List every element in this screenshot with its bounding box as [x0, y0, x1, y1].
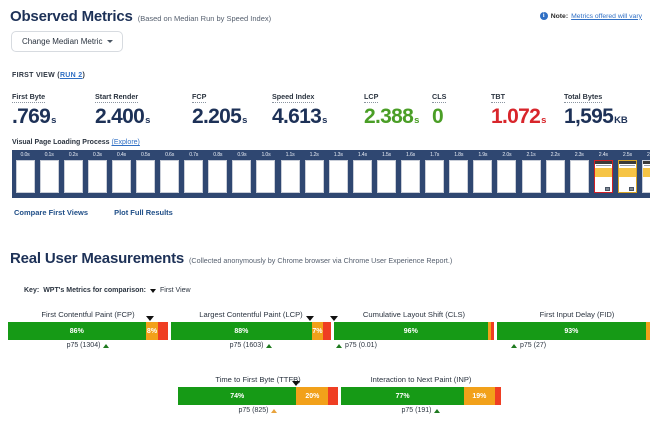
cwv-metric-card: Cumulative Layout Shift (CLS)96%p75 (0.0… [334, 310, 494, 349]
thumb-line [644, 165, 650, 166]
cwv-bar-wrapper: 96% [334, 322, 494, 340]
filmstrip-frame[interactable]: 1.1s [278, 151, 302, 197]
key-prefix: Key: [24, 287, 39, 294]
cwv-p75: p75 (0.01) [334, 342, 494, 349]
filmstrip-frame-time: 0.2s [62, 151, 84, 160]
filmstrip-frame-time: 0.1s [38, 151, 60, 160]
metric-label: First Byte [12, 92, 45, 103]
cwv-p75: p75 (1603) [171, 342, 331, 349]
cwv-p75: p75 (825) [178, 407, 338, 414]
filmstrip-frame-time: 1.0s [255, 151, 277, 160]
filmstrip-frame-time: 2.1s [520, 151, 542, 160]
filmstrip-frame-time: 0.0s [14, 151, 36, 160]
cwv-bar-segment-good: 77% [341, 387, 464, 405]
cwv-distribution-bar: 86%8% [8, 322, 168, 340]
metric-value: 2.388s [364, 106, 432, 127]
filmstrip-frame[interactable]: 0.9s [230, 151, 254, 197]
filmstrip-frame-time: 1.6s [400, 151, 422, 160]
cwv-segment-label: 7% [312, 328, 322, 335]
cwv-bar-segment-poor [328, 387, 338, 405]
filmstrip-frame-time: 2.4s [592, 151, 614, 160]
filmstrip-thumbnail[interactable] [377, 160, 396, 193]
filmstrip-frame-time: 2.5s [617, 151, 639, 160]
cwv-p75-label: p75 (0.01) [345, 342, 377, 349]
first-view-marker-icon [330, 316, 338, 321]
cwv-bar-segment-needs-improvement: 19% [464, 387, 494, 405]
cwv-bar-wrapper: 86%8% [8, 322, 168, 340]
filmstrip-frame-time: 0.4s [111, 151, 133, 160]
plot-full-results-link[interactable]: Plot Full Results [114, 208, 173, 217]
filmstrip-thumbnail[interactable] [281, 160, 300, 193]
cwv-p75-label: p75 (191) [402, 407, 432, 414]
cwv-distribution-bar: 77%19% [341, 387, 501, 405]
filmstrip-thumbnail[interactable] [16, 160, 35, 193]
filmstrip-frame[interactable]: 1.2s [302, 151, 326, 197]
observed-metrics-row: First Byte.769sStart Render2.400sFCP2.20… [12, 86, 642, 127]
first-view-marker-icon [292, 381, 300, 386]
filmstrip-thumbnail[interactable] [425, 160, 444, 193]
metric-unit: s [51, 115, 56, 126]
page-title: Observed Metrics [10, 8, 133, 25]
metric-label: Speed Index [272, 92, 314, 103]
filmstrip-frame[interactable]: 0.6s [158, 151, 182, 197]
filmstrip-frame[interactable]: 1.7s [423, 151, 447, 197]
filmstrip-frame-time: 2.2s [544, 151, 566, 160]
info-icon: i [540, 12, 548, 20]
cwv-metric-name: Interaction to Next Paint (INP) [341, 375, 501, 384]
metric-unit: s [541, 115, 546, 126]
cwv-bar-wrapper: 74%20% [178, 387, 338, 405]
cwv-p75-label: p75 (27) [520, 342, 546, 349]
filmstrip-frame-time: 1.2s [303, 151, 325, 160]
cwv-bar-wrapper: 77%19% [341, 387, 501, 405]
filmstrip-frame-time: 1.8s [448, 151, 470, 160]
filmstrip-frame-time: 2.0s [496, 151, 518, 160]
cwv-segment-label: 86% [70, 328, 84, 335]
metric-label: CLS [432, 92, 446, 103]
filmstrip-frame[interactable]: 2.4s [591, 151, 615, 197]
filmstrip-frame[interactable]: 1.6s [399, 151, 423, 197]
cwv-segment-label: 20% [305, 393, 319, 400]
filmstrip-thumbnail[interactable] [546, 160, 565, 193]
filmstrip-thumbnail[interactable] [401, 160, 420, 193]
filmstrip-frame[interactable]: 2.5s [615, 151, 639, 197]
cwv-p75: p75 (191) [341, 407, 501, 414]
filmstrip-frame[interactable]: 0.7s [182, 151, 206, 197]
filmstrip-frame[interactable]: 1.3s [326, 151, 350, 197]
note-label: Note: [551, 13, 568, 20]
observed-metric-fcp: FCP2.205s [192, 86, 272, 127]
cwv-bar-segment-poor [158, 322, 168, 340]
metric-value: 1.072s [491, 106, 564, 127]
filmstrip-frame[interactable]: 0.0s [13, 151, 37, 197]
filmstrip-thumbnail[interactable] [208, 160, 227, 193]
filmstrip-thumbnail[interactable] [449, 160, 468, 193]
filmstrip-thumbnail[interactable] [618, 160, 637, 193]
metric-unit: s [414, 115, 419, 126]
filmstrip-frame[interactable]: 2.6s [639, 151, 650, 197]
cwv-row: First Contentful Paint (FCP)86%8%p75 (13… [8, 310, 650, 349]
webpagetest-results-page: Observed Metrics (Based on Median Run by… [0, 0, 650, 434]
key-marker-label: First View [160, 287, 191, 294]
filmstrip-frame-time: 1.9s [472, 151, 494, 160]
filmstrip-frame-time: 1.5s [376, 151, 398, 160]
cwv-bar-segment-poor [491, 322, 494, 340]
observed-metric-start-render: Start Render2.400s [95, 86, 192, 127]
results-links: Compare First Views Plot Full Results [14, 208, 173, 217]
thumb-hero-band [643, 168, 650, 177]
metric-value: .769s [12, 106, 95, 127]
cwv-p75-label: p75 (825) [239, 407, 269, 414]
cwv-bar-segment-good: 88% [171, 322, 312, 340]
cwv-segment-label: 19% [472, 393, 486, 400]
p75-marker-icon [271, 409, 277, 413]
cwv-metric-name: First Contentful Paint (FCP) [8, 310, 168, 319]
metric-unit: s [145, 115, 150, 126]
metric-value: 2.400s [95, 106, 192, 127]
filmstrip-frame-time: 1.1s [279, 151, 301, 160]
cwv-bar-wrapper: 88%7% [171, 322, 331, 340]
p75-marker-icon [103, 344, 109, 348]
filmstrip-frame-time: 0.5s [135, 151, 157, 160]
filmstrip-frame-time: 2.6s [641, 151, 650, 160]
filmstrip-frame-time: 0.6s [159, 151, 181, 160]
filmstrip-thumbnail[interactable] [232, 160, 251, 193]
rum-subtitle: (Collected anonymously by Chrome browser… [189, 256, 452, 265]
filmstrip-frame[interactable]: 0.2s [61, 151, 85, 197]
observed-metric-tbt: TBT1.072s [491, 86, 564, 127]
cwv-distribution-bar: 74%20% [178, 387, 338, 405]
rum-header: Real User Measurements (Collected anonym… [10, 250, 452, 267]
first-view-marker-icon [150, 289, 156, 293]
metrics-note: i Note: Metrics offered will vary [540, 12, 642, 20]
filmstrip-thumbnail[interactable] [64, 160, 83, 193]
observed-metric-first-byte: First Byte.769s [12, 86, 95, 127]
filmstrip-thumbnail[interactable] [594, 160, 613, 193]
cwv-metric-name: Time to First Byte (TTFB) [178, 375, 338, 384]
filmstrip-frame[interactable]: 2.0s [495, 151, 519, 197]
metric-label: LCP [364, 92, 378, 103]
cwv-segment-label: 88% [234, 328, 248, 335]
cwv-metric-card: Largest Contentful Paint (LCP)88%7%p75 (… [171, 310, 331, 349]
thumb-line [596, 165, 611, 166]
cwv-bar-segment-poor [495, 387, 501, 405]
observed-metrics-subtitle: (Based on Median Run by Speed Index) [138, 14, 271, 23]
cwv-bar-segment-needs-improvement: 8% [146, 322, 159, 340]
cwv-distribution-bar: 93% [497, 322, 650, 340]
filmstrip-thumbnail[interactable] [329, 160, 348, 193]
cwv-bar-segment-good: 96% [334, 322, 488, 340]
filmstrip-thumbnail[interactable] [473, 160, 492, 193]
filmstrip-frame-time: 1.7s [424, 151, 446, 160]
rum-title: Real User Measurements [10, 250, 184, 267]
cwv-p75: p75 (27) [497, 342, 650, 349]
thumb-line [620, 165, 635, 166]
filmstrip-frame[interactable]: 1.8s [447, 151, 471, 197]
observed-metrics-header: Observed Metrics (Based on Median Run by… [10, 8, 271, 25]
cwv-distribution-bar: 96% [334, 322, 494, 340]
cwv-segment-label: 96% [404, 328, 418, 335]
metric-unit: KB [614, 115, 628, 126]
filmstrip-thumbnail[interactable] [305, 160, 324, 193]
cwv-metric-card: First Contentful Paint (FCP)86%8%p75 (13… [8, 310, 168, 349]
cwv-segment-label: 74% [230, 393, 244, 400]
filmstrip-thumbnail[interactable] [160, 160, 179, 193]
filmstrip-frame[interactable]: 1.9s [471, 151, 495, 197]
cwv-bar-segment-good: 74% [178, 387, 296, 405]
metric-unit: s [322, 115, 327, 126]
thumb-body [643, 177, 650, 192]
filmstrip-thumbnail[interactable] [522, 160, 541, 193]
metric-label: Start Render [95, 92, 138, 103]
filmstrip-frame[interactable]: 0.1s [37, 151, 61, 197]
p75-marker-icon [336, 344, 342, 348]
thumb-browser-bar [619, 161, 636, 164]
filmstrip-thumbnail[interactable] [136, 160, 155, 193]
filmstrip-thumbnail[interactable] [570, 160, 589, 193]
cwv-bar-segment-needs-improvement [646, 322, 650, 340]
metric-unit: s [242, 115, 247, 126]
observed-metric-cls: CLS0 [432, 86, 491, 127]
thumb-hero-band [595, 168, 612, 177]
thumb-image-block [629, 187, 634, 191]
filmstrip-frame[interactable]: 2.1s [519, 151, 543, 197]
cwv-row: Time to First Byte (TTFB)74%20%p75 (825)… [178, 375, 504, 414]
metric-value: 4.613s [272, 106, 364, 127]
cwv-distribution-bar: 88%7% [171, 322, 331, 340]
metric-value: 0 [432, 106, 491, 127]
cwv-segment-label: 77% [396, 393, 410, 400]
cwv-bar-segment-good: 86% [8, 322, 146, 340]
p75-marker-icon [434, 409, 440, 413]
filmstrip-frame[interactable]: 1.4s [350, 151, 374, 197]
filmstrip-frame-time: 0.8s [207, 151, 229, 160]
first-view-marker-icon [306, 316, 314, 321]
thumb-browser-bar [643, 161, 650, 164]
cwv-metric-name: First Input Delay (FID) [497, 310, 650, 319]
filmstrip-thumbnail[interactable] [112, 160, 131, 193]
filmstrip-frame-time: 1.4s [352, 151, 374, 160]
cwv-metric-card: Time to First Byte (TTFB)74%20%p75 (825) [178, 375, 338, 414]
metric-label: Total Bytes [564, 92, 602, 103]
cwv-p75-label: p75 (1603) [230, 342, 264, 349]
metric-value: 1,595KB [564, 106, 644, 127]
filmstrip-frame[interactable]: 0.5s [133, 151, 157, 197]
change-median-metric-label: Change Median Metric [22, 37, 102, 46]
filmstrip-frame[interactable]: 2.3s [567, 151, 591, 197]
filmstrip-frame[interactable]: 0.8s [206, 151, 230, 197]
cwv-metric-card: Interaction to Next Paint (INP)77%19%p75… [341, 375, 501, 414]
p75-marker-icon [266, 344, 272, 348]
filmstrip-frame[interactable]: 1.0s [254, 151, 278, 197]
cwv-bar-wrapper: 93% [497, 322, 650, 340]
thumb-browser-bar [595, 161, 612, 164]
metric-value: 2.205s [192, 106, 272, 127]
explore-link[interactable]: (Explore) [111, 139, 139, 146]
first-view-marker-icon [146, 316, 154, 321]
rum-key: Key: WPT's Metrics for comparison: First… [24, 287, 191, 294]
thumb-hero-band [619, 168, 636, 177]
filmstrip-thumbnail[interactable] [88, 160, 107, 193]
filmstrip-thumbnail[interactable] [353, 160, 372, 193]
cwv-bar-segment-poor [323, 322, 331, 340]
cwv-segment-label: 8% [147, 328, 157, 335]
visual-loading-heading: Visual Page Loading Process (Explore) [12, 139, 140, 146]
cwv-bar-segment-needs-improvement: 20% [296, 387, 328, 405]
compare-first-views-link[interactable]: Compare First Views [14, 208, 88, 217]
cwv-segment-label: 93% [564, 328, 578, 335]
filmstrip[interactable]: 0.0s0.1s0.2s0.3s0.4s0.5s0.6s0.7s0.8s0.9s… [12, 150, 650, 198]
metric-label: FCP [192, 92, 206, 103]
filmstrip-frame[interactable]: 0.3s [85, 151, 109, 197]
note-link[interactable]: Metrics offered will vary [571, 13, 642, 20]
filmstrip-frame-time: 0.7s [183, 151, 205, 160]
key-text: WPT's Metrics for comparison: [43, 287, 146, 294]
cwv-p75-label: p75 (1304) [67, 342, 101, 349]
filmstrip-frame-time: 0.3s [86, 151, 108, 160]
filmstrip-thumbnail[interactable] [40, 160, 59, 193]
filmstrip-frame-time: 2.3s [568, 151, 590, 160]
filmstrip-thumbnail[interactable] [497, 160, 516, 193]
metric-label: TBT [491, 92, 505, 103]
p75-marker-icon [511, 344, 517, 348]
observed-metric-speed-index: Speed Index4.613s [272, 86, 364, 127]
first-view-label: FIRST VIEW [12, 72, 55, 79]
visual-loading-label: Visual Page Loading Process [12, 139, 110, 146]
cwv-bar-segment-good: 93% [497, 322, 646, 340]
change-median-metric-button[interactable]: Change Median Metric [11, 31, 123, 52]
filmstrip-thumbnail[interactable] [184, 160, 203, 193]
cwv-metric-name: Cumulative Layout Shift (CLS) [334, 310, 494, 319]
filmstrip-thumbnail[interactable] [642, 160, 650, 193]
filmstrip-thumbnail[interactable] [256, 160, 275, 193]
filmstrip-frame-time: 0.9s [231, 151, 253, 160]
filmstrip-frame[interactable]: 2.2s [543, 151, 567, 197]
cwv-bar-segment-needs-improvement: 7% [312, 322, 323, 340]
observed-metric-total-bytes: Total Bytes1,595KB [564, 86, 644, 127]
chevron-down-icon [107, 40, 113, 43]
cwv-p75: p75 (1304) [8, 342, 168, 349]
cwv-metric-card: First Input Delay (FID)93%p75 (27) [497, 310, 650, 349]
first-view-heading: FIRST VIEW (RUN 2) [12, 72, 85, 79]
filmstrip-frame[interactable]: 1.5s [374, 151, 398, 197]
run-link[interactable]: RUN 2 [60, 72, 83, 79]
filmstrip-frame-time: 1.3s [327, 151, 349, 160]
observed-metric-lcp: LCP2.388s [364, 86, 432, 127]
thumb-image-block [605, 187, 610, 191]
filmstrip-frame[interactable]: 0.4s [109, 151, 133, 197]
